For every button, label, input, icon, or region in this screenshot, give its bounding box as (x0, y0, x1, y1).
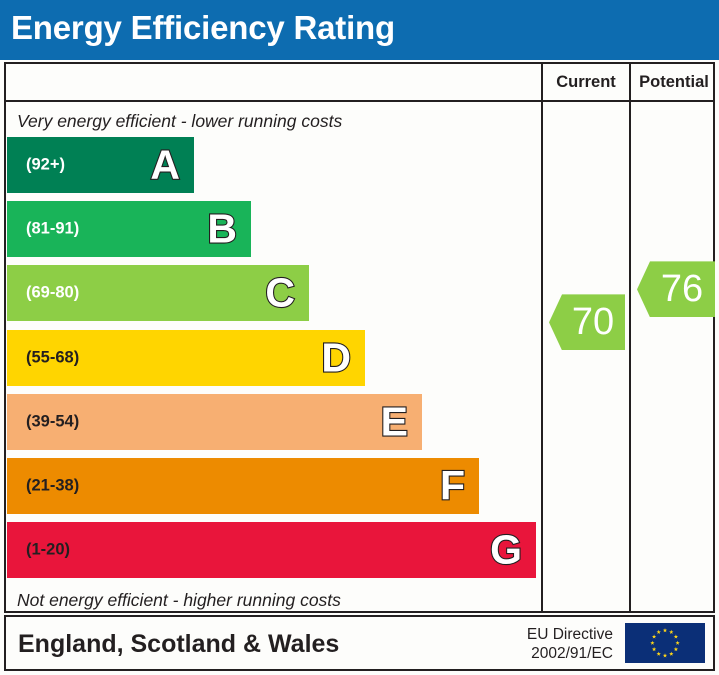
band-range-e: (39-54) (26, 412, 79, 431)
page-title: Energy Efficiency Rating (11, 9, 395, 47)
potential-rating-value: 76 (649, 270, 703, 308)
current-rating-value: 70 (560, 303, 614, 341)
rating-band-c: (69-80) C (7, 265, 309, 321)
footer-directive-line2: 2002/91/EC (527, 644, 613, 663)
chart-footer: England, Scotland & Wales EU Directive 2… (4, 615, 715, 671)
rating-band-a: (92+) A (7, 137, 194, 193)
footer-directive: EU Directive 2002/91/EC (527, 625, 613, 664)
band-range-b: (81-91) (26, 220, 79, 239)
caption-not-efficient: Not energy efficient - higher running co… (17, 590, 341, 611)
band-letter-d: D (321, 337, 351, 378)
band-range-a: (92+) (26, 156, 65, 175)
potential-rating-marker: 76 (637, 261, 715, 317)
band-range-g: (1-20) (26, 541, 70, 560)
chart-title-bar: Energy Efficiency Rating (0, 0, 719, 60)
eu-flag-icon (625, 623, 705, 663)
band-range-d: (55-68) (26, 348, 79, 367)
band-letter-g: G (490, 530, 522, 571)
band-letter-f: F (440, 466, 465, 507)
footer-region-label: England, Scotland & Wales (18, 630, 339, 659)
current-rating-marker: 70 (549, 294, 625, 350)
rating-band-d: (55-68) D (7, 330, 365, 386)
column-divider-current (541, 62, 543, 613)
band-letter-e: E (381, 401, 408, 442)
rating-band-f: (21-38) F (7, 458, 479, 514)
band-range-f: (21-38) (26, 477, 79, 496)
column-header-potential: Potential (631, 73, 717, 92)
caption-very-efficient: Very energy efficient - lower running co… (17, 111, 342, 132)
epc-energy-efficiency-chart: Energy Efficiency Rating Current Potenti… (0, 0, 719, 675)
rating-band-e: (39-54) E (7, 394, 422, 450)
rating-band-b: (81-91) B (7, 201, 251, 257)
band-letter-b: B (207, 209, 237, 250)
band-letter-c: C (265, 273, 295, 314)
header-row-separator (4, 100, 715, 102)
footer-directive-line1: EU Directive (527, 625, 613, 644)
rating-band-g: (1-20) G (7, 522, 536, 578)
band-letter-a: A (150, 145, 180, 186)
column-header-current: Current (543, 73, 629, 92)
column-divider-potential (629, 62, 631, 613)
band-range-c: (69-80) (26, 284, 79, 303)
